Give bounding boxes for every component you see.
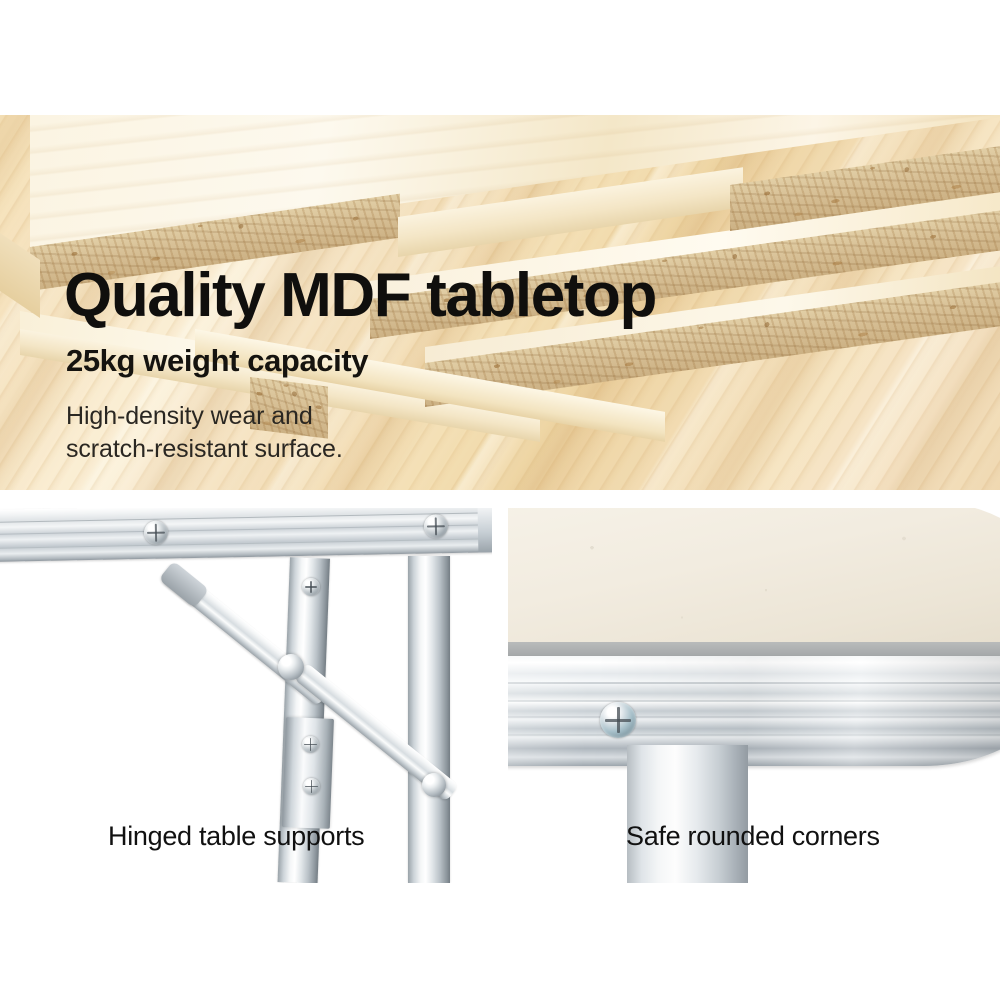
leg-collar [282,717,334,829]
brace-end-pin [422,773,446,797]
table-leg-outer [408,556,450,883]
feature-panel-hinged-supports: Hinged table supports [0,508,492,883]
leg-screw-upper [302,578,320,596]
aluminium-table-rail [0,508,492,562]
hero-body-line-2: scratch-resistant surface. [66,433,343,466]
hero-panel: Quality MDF tabletop 25kg weight capacit… [0,115,1000,490]
hero-headline: Quality MDF tabletop [64,265,656,327]
collar-screw-upper [302,736,319,753]
collar-screw-lower [303,778,320,795]
caption-hinged-supports: Hinged table supports [108,823,364,850]
hero-body-copy: High-density wear and scratch-resistant … [66,400,343,466]
caption-rounded-corners: Safe rounded corners [626,823,880,850]
hero-subheadline: 25kg weight capacity [66,345,368,376]
rail-end-cap [477,508,492,553]
edge-band-screw [600,702,636,738]
feature-panel-rounded-corners: Safe rounded corners [508,508,1000,883]
brace-pivot-joint [278,654,304,680]
rail-screw-left [144,521,168,545]
edge-band-highlight [508,656,1000,766]
hero-body-line-1: High-density wear and [66,400,343,433]
product-feature-image: Quality MDF tabletop 25kg weight capacit… [0,0,1000,1000]
table-leg [627,745,748,883]
rounded-corner-table-image [508,508,1000,762]
mdf-tabletop-surface [508,508,1000,654]
rail-screw-right [424,514,448,538]
